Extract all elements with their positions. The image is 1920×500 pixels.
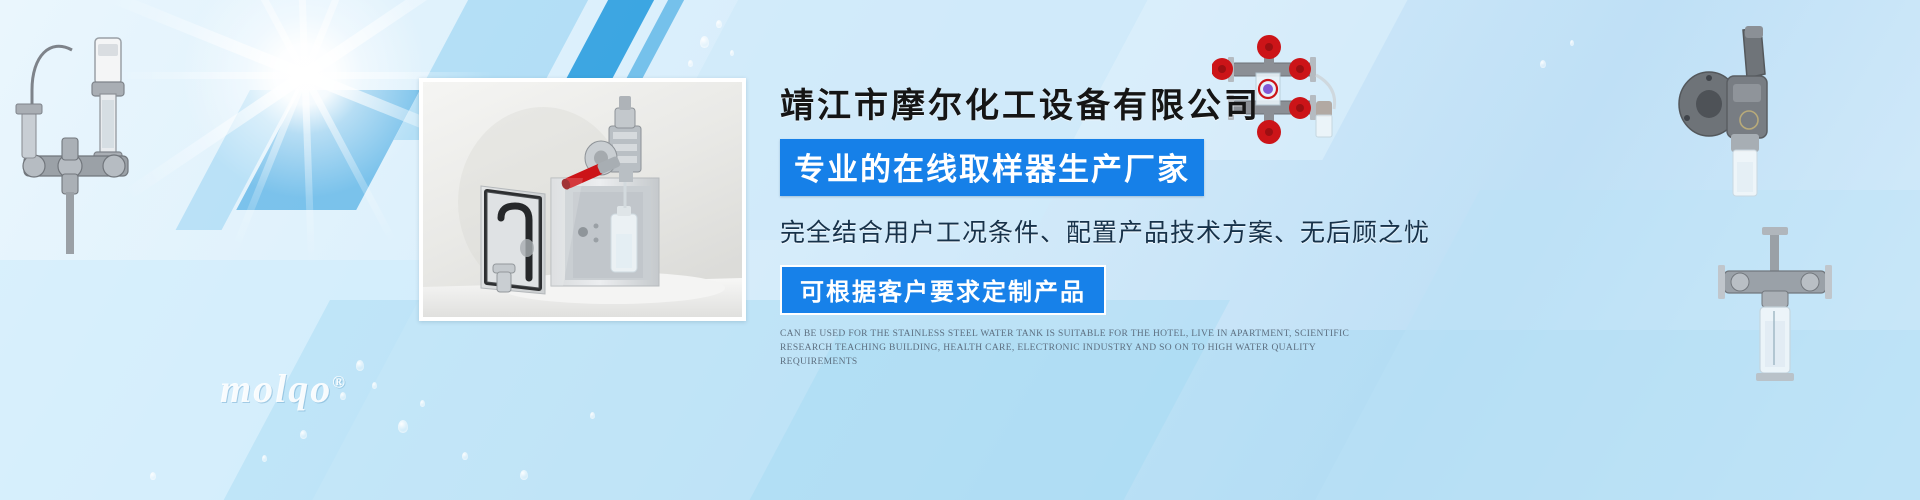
fineprint-description: CAN BE USED FOR THE STAINLESS STEEL WATE…: [780, 327, 1380, 369]
product-photo-frame: [419, 78, 746, 321]
flanged-lever-valve-icon: [1665, 22, 1795, 222]
water-droplet-icon: [420, 400, 425, 407]
water-droplet-icon: [398, 420, 408, 433]
water-droplet-icon: [262, 455, 267, 462]
vertical-sampler-equipment-icon: [10, 20, 180, 260]
watermark-logo: molqo®: [220, 365, 347, 412]
photo-artwork: [423, 82, 742, 317]
banner-text-block: 靖江市摩尔化工设备有限公司 专业的在线取样器生产厂家 完全结合用户工况条件、配置…: [780, 78, 1400, 369]
stainless-steel-sampler-cabinet-photo: [423, 82, 742, 317]
water-droplet-icon: [356, 360, 364, 371]
sunburst-icon: [155, 0, 455, 225]
water-droplet-icon: [520, 470, 528, 480]
company-name: 靖江市摩尔化工设备有限公司: [780, 78, 1400, 127]
water-droplet-icon: [150, 472, 156, 480]
water-droplet-icon: [590, 412, 595, 419]
water-droplet-icon: [372, 382, 377, 389]
customization-badge: 可根据客户要求定制产品: [780, 265, 1106, 315]
headline-badge: 专业的在线取样器生产厂家: [780, 139, 1204, 196]
promo-banner: 靖江市摩尔化工设备有限公司 专业的在线取样器生产厂家 完全结合用户工况条件、配置…: [0, 0, 1920, 500]
water-droplet-icon: [716, 20, 722, 28]
water-droplet-icon: [300, 430, 307, 439]
water-droplet-icon: [730, 50, 734, 56]
water-droplet-icon: [1540, 60, 1546, 68]
subheadline: 完全结合用户工况条件、配置产品技术方案、无后顾之忧: [780, 213, 1400, 249]
water-droplet-icon: [1570, 40, 1574, 46]
water-droplet-icon: [700, 36, 709, 48]
registered-trademark-icon: ®: [332, 373, 347, 392]
water-droplet-icon: [688, 60, 693, 67]
water-droplet-icon: [462, 452, 468, 460]
inline-sampling-valve-icon: [1700, 225, 1850, 400]
watermark-text: molqo: [220, 366, 332, 411]
sun-ray: [295, 0, 315, 265]
